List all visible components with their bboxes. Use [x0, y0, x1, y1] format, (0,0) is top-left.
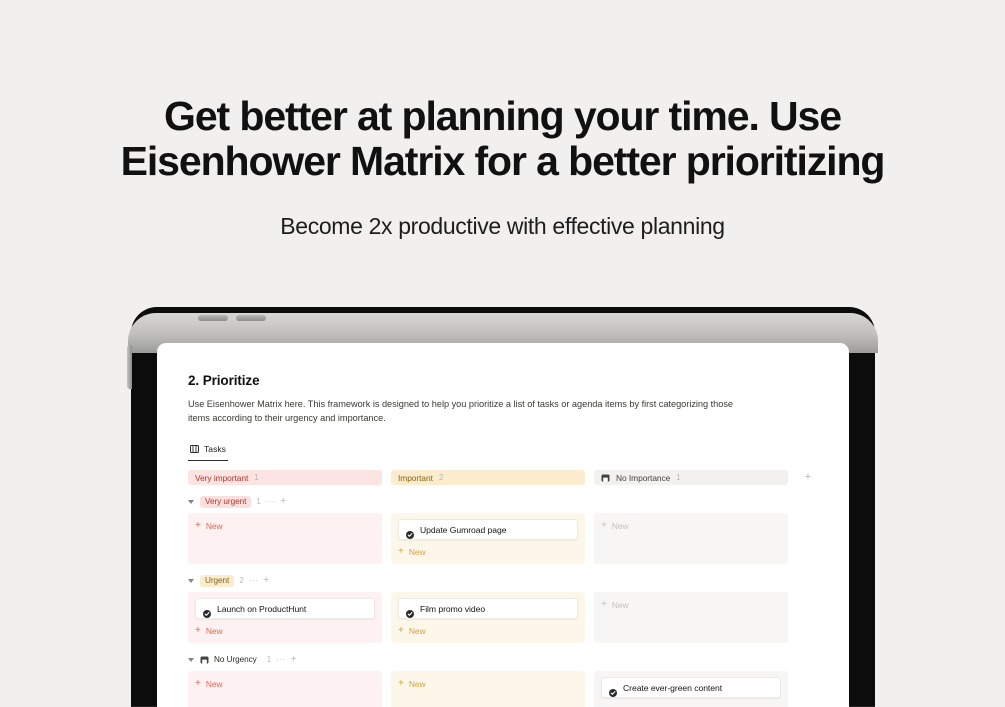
add-task-label: New [409, 626, 426, 636]
column-label: Very important [195, 473, 248, 483]
add-task-button[interactable]: + New [601, 598, 781, 611]
grid-spacer [797, 592, 819, 643]
chevron-down-icon[interactable] [188, 658, 194, 662]
task-card[interactable]: Create ever-green content [601, 677, 781, 698]
row-add-icon[interactable]: + [280, 497, 286, 506]
column-label: No Importance [616, 473, 670, 483]
power-button[interactable] [127, 345, 132, 389]
page-title-line-2: Eisenhower Matrix for a better prioritiz… [0, 139, 1005, 184]
check-circle-icon[interactable] [406, 605, 414, 613]
volume-down-button[interactable] [236, 315, 266, 321]
view-tabs: Tasks [188, 440, 819, 460]
page-subtitle: Become 2x productive with effective plan… [0, 184, 1005, 240]
plus-icon: + [195, 626, 201, 635]
add-task-button[interactable]: + New [398, 677, 578, 690]
cell-very-urgent-no-importance[interactable]: + New [594, 513, 788, 564]
tablet-screen: 2. Prioritize Use Eisenhower Matrix here… [157, 343, 849, 707]
column-header-important[interactable]: Important 2 [391, 470, 585, 485]
row-count: 1 [256, 497, 260, 506]
add-task-button[interactable]: + New [398, 545, 578, 558]
board-column-headers: Very important 1 Important 2 [188, 470, 819, 485]
row-cells: + New + New [188, 671, 819, 707]
tab-tasks-label: Tasks [204, 444, 226, 454]
inbox-icon [200, 656, 209, 664]
document-description: Use Eisenhower Matrix here. This framewo… [188, 397, 753, 425]
row-menu-icon[interactable]: ··· [266, 499, 276, 505]
task-card[interactable]: Film promo video [398, 598, 578, 619]
volume-up-button[interactable] [198, 315, 228, 321]
chevron-down-icon[interactable] [188, 579, 194, 583]
check-circle-icon[interactable] [406, 526, 414, 534]
column-header-very-important[interactable]: Very important 1 [188, 470, 382, 485]
row-header[interactable]: Urgent 2 ··· + [188, 574, 819, 587]
row-cells: Launch on ProductHunt + New [188, 592, 819, 643]
cell-no-urgency-very-important[interactable]: + New [188, 671, 382, 707]
task-title: Create ever-green content [623, 683, 722, 693]
add-task-button[interactable]: + New [601, 519, 781, 532]
page-title-line-1: Get better at planning your time. Use [164, 93, 841, 139]
row-label: No Urgency [214, 654, 262, 666]
row-add-icon[interactable]: + [291, 655, 297, 664]
task-title: Launch on ProductHunt [217, 604, 306, 614]
row-add-icon[interactable]: + [263, 576, 269, 585]
cell-urgent-very-important[interactable]: Launch on ProductHunt + New [188, 592, 382, 643]
inbox-icon [601, 474, 610, 482]
cell-very-urgent-very-important[interactable]: + New [188, 513, 382, 564]
add-task-label: New [206, 521, 223, 531]
board-row-very-urgent: Very urgent 1 ··· + + New [188, 495, 819, 564]
tabs-divider [188, 459, 819, 460]
plus-icon: + [398, 679, 404, 688]
add-task-button[interactable]: + New [398, 624, 578, 637]
board-row-urgent: Urgent 2 ··· + [188, 574, 819, 643]
chevron-down-icon[interactable] [188, 500, 194, 504]
row-menu-icon[interactable]: ··· [249, 578, 259, 584]
row-count: 1 [267, 655, 271, 664]
page-title: Get better at planning your time. Use Ei… [0, 0, 1005, 184]
plus-icon: + [398, 547, 404, 556]
grid-spacer [797, 671, 819, 707]
row-count: 2 [239, 576, 243, 585]
document-title: 2. Prioritize [188, 373, 819, 388]
column-count: 2 [439, 473, 443, 482]
plus-icon: + [601, 521, 607, 530]
add-task-label: New [206, 626, 223, 636]
board-row-no-urgency: No Urgency 1 ··· + + New [188, 653, 819, 707]
task-card[interactable]: Launch on ProductHunt [195, 598, 375, 619]
plus-icon: + [195, 679, 201, 688]
tab-tasks[interactable]: Tasks [188, 444, 228, 461]
cell-very-urgent-important[interactable]: Update Gumroad page + New [391, 513, 585, 564]
add-task-button[interactable]: + New [195, 624, 375, 637]
add-task-button[interactable]: + New [195, 519, 375, 532]
row-menu-icon[interactable]: ··· [276, 657, 286, 663]
row-header[interactable]: No Urgency 1 ··· + [188, 653, 819, 666]
column-count: 1 [254, 473, 258, 482]
add-task-label: New [612, 600, 629, 610]
task-title: Update Gumroad page [420, 525, 506, 535]
document-body: 2. Prioritize Use Eisenhower Matrix here… [157, 343, 849, 707]
row-label: Very urgent [200, 496, 251, 508]
grid-spacer [797, 513, 819, 564]
eisenhower-board: Very important 1 Important 2 [188, 470, 819, 707]
cell-urgent-important[interactable]: Film promo video + New [391, 592, 585, 643]
task-card[interactable]: Update Gumroad page [398, 519, 578, 540]
cell-no-urgency-important[interactable]: + New [391, 671, 585, 707]
poster-canvas: Get better at planning your time. Use Ei… [0, 0, 1005, 669]
add-task-label: New [612, 521, 629, 531]
column-label: Important [398, 473, 433, 483]
add-task-label: New [409, 547, 426, 557]
row-cells: + New [188, 513, 819, 564]
column-count: 1 [676, 473, 680, 482]
add-task-button[interactable]: + New [195, 677, 375, 690]
plus-icon: + [195, 521, 201, 530]
task-title: Film promo video [420, 604, 485, 614]
add-task-label: New [409, 679, 426, 689]
cell-urgent-no-importance[interactable]: + New [594, 592, 788, 643]
plus-icon: + [601, 600, 607, 609]
plus-icon: + [398, 626, 404, 635]
check-circle-icon[interactable] [203, 605, 211, 613]
tablet-device: 2. Prioritize Use Eisenhower Matrix here… [131, 307, 875, 707]
row-label: Urgent [200, 575, 234, 587]
hero-section: Get better at planning your time. Use Ei… [0, 0, 1005, 240]
add-task-label: New [206, 679, 223, 689]
check-circle-icon[interactable] [609, 684, 617, 692]
cell-no-urgency-no-importance[interactable]: Create ever-green content [594, 671, 788, 707]
board-icon [190, 445, 199, 453]
row-header[interactable]: Very urgent 1 ··· + [188, 495, 819, 508]
add-column-button[interactable]: + [797, 470, 819, 485]
column-header-no-importance[interactable]: No Importance 1 [594, 470, 788, 485]
